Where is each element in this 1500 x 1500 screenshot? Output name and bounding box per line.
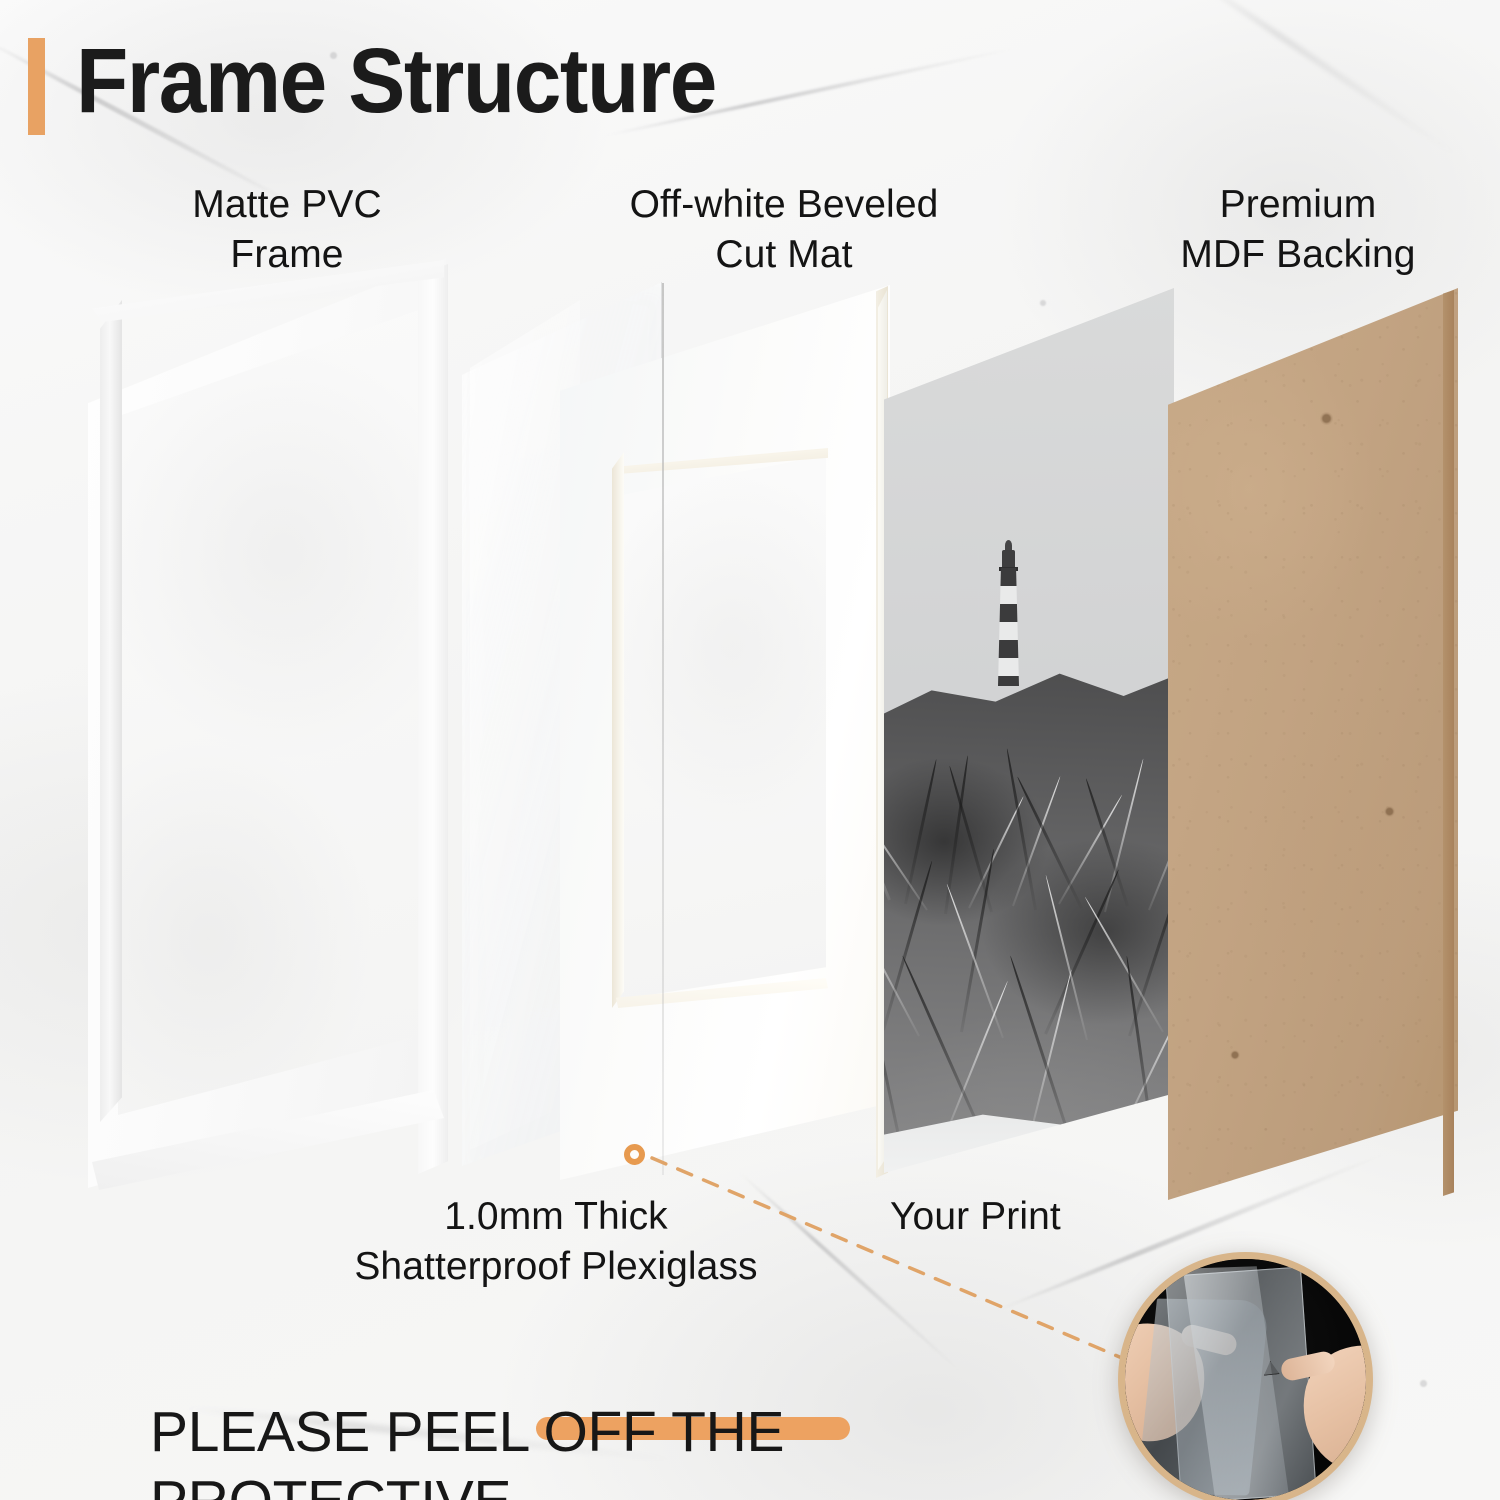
mdf-backing-panel	[1168, 288, 1458, 1200]
frame-inner-edge	[100, 300, 122, 1122]
plexiglass-callout-marker	[624, 1144, 645, 1165]
dune-grass-field	[884, 640, 1174, 1173]
mat-window-opening	[618, 455, 826, 1000]
product-infographic: Frame Structure	[0, 0, 1500, 1500]
peel-film-inset-photo	[1118, 1252, 1373, 1500]
frame-right-edge	[418, 264, 448, 1174]
label-plexiglass: 1.0mm Thick Shatterproof Plexiglass	[232, 1192, 880, 1292]
lighthouse-icon	[996, 538, 1022, 686]
label-your-print: Your Print	[890, 1192, 1146, 1242]
frame-open-window	[118, 310, 418, 1115]
banner-text: PLEASE PEEL OFF THE PROTECTIVE FILMS ON …	[150, 1400, 902, 1500]
print-photo	[884, 288, 1174, 1173]
lighthouse-striped-tower	[998, 568, 1019, 686]
mdf-grain-texture	[1168, 288, 1458, 1200]
mat-bevel-left	[612, 452, 624, 1008]
peeling-protective-film	[1137, 1299, 1270, 1496]
mat-seam-line	[662, 283, 664, 1175]
mdf-knot	[1230, 1050, 1240, 1060]
mdf-knot	[1384, 806, 1395, 817]
mdf-right-edge	[1443, 290, 1454, 1196]
label-matte-pvc-frame: Matte PVC Frame	[112, 180, 462, 280]
label-cut-mat: Off-white Beveled Cut Mat	[582, 180, 986, 280]
mdf-knot	[1320, 412, 1333, 425]
peel-instruction-banner: PLEASE PEEL OFF THE PROTECTIVE FILMS ON …	[150, 1328, 1070, 1500]
label-mdf-backing: Premium MDF Backing	[1112, 180, 1484, 280]
